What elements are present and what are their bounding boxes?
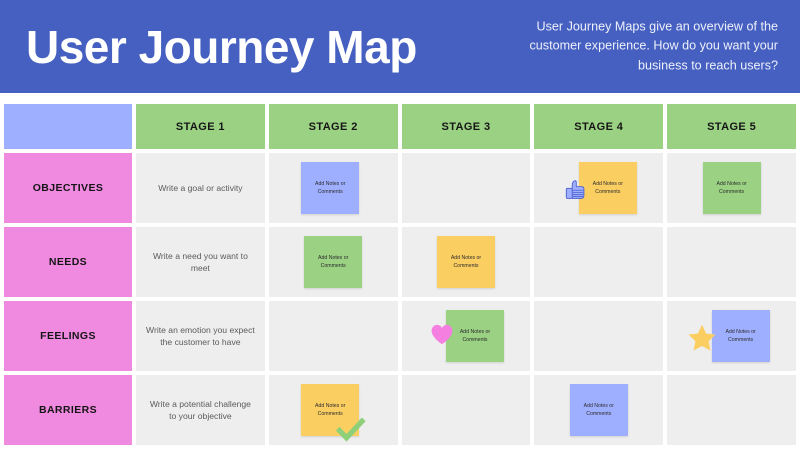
cell-needs-stage2[interactable]: Add Notes or Comments	[269, 227, 398, 297]
stage-header-label: STAGE 2	[309, 121, 358, 133]
cell-feelings-stage3[interactable]: Add Notes or Comments	[402, 301, 531, 371]
grid-corner-cell	[4, 104, 132, 149]
sticky-note[interactable]: Add Notes or Comments	[712, 310, 770, 362]
prompt-text: Write an emotion you expect the customer…	[136, 324, 265, 349]
stage-header-3[interactable]: STAGE 3	[402, 104, 531, 149]
stage-header-2[interactable]: STAGE 2	[269, 104, 398, 149]
header-subtitle: User Journey Maps give an overview of th…	[488, 17, 778, 76]
stage-header-label: STAGE 4	[574, 121, 623, 133]
note-wrapper: Add Notes or Comments	[402, 301, 531, 371]
prompt-text: Write a potential challenge to your obje…	[136, 398, 265, 423]
row-label-text: BARRIERS	[39, 404, 97, 416]
sticky-note-text: Add Notes or Comments	[446, 328, 504, 345]
stage-header-label: STAGE 3	[441, 121, 490, 133]
sticky-note[interactable]: Add Notes or Comments	[579, 162, 637, 214]
row-label-objectives[interactable]: OBJECTIVES	[4, 153, 132, 223]
note-wrapper: Add Notes or Comments	[402, 227, 531, 297]
sticky-note-text: Add Notes or Comments	[437, 254, 495, 271]
note-wrapper: Add Notes or Comments	[269, 227, 398, 297]
stage-header-label: STAGE 1	[176, 121, 225, 133]
prompt-text: Write a need you want to meet	[136, 250, 265, 275]
user-journey-map-page: User Journey Map User Journey Maps give …	[0, 0, 800, 449]
cell-feelings-stage4[interactable]	[534, 301, 663, 371]
sticky-note-text: Add Notes or Comments	[570, 402, 628, 419]
sticky-note[interactable]: Add Notes or Comments	[703, 162, 761, 214]
note-wrapper: Add Notes or Comments	[269, 375, 398, 445]
page-title: User Journey Map	[26, 20, 417, 74]
cell-barriers-stage4[interactable]: Add Notes or Comments	[534, 375, 663, 445]
cell-needs-stage1[interactable]: Write a need you want to meet	[136, 227, 265, 297]
cell-objectives-stage1[interactable]: Write a goal or activity	[136, 153, 265, 223]
cell-feelings-stage5[interactable]: Add Notes or Comments	[667, 301, 796, 371]
cell-barriers-stage5[interactable]	[667, 375, 796, 445]
note-wrapper: Add Notes or Comments	[269, 153, 398, 223]
row-label-feelings[interactable]: FEELINGS	[4, 301, 132, 371]
sticky-note[interactable]: Add Notes or Comments	[304, 236, 362, 288]
sticky-note-text: Add Notes or Comments	[304, 254, 362, 271]
note-wrapper: Add Notes or Comments	[534, 375, 663, 445]
cell-objectives-stage5[interactable]: Add Notes or Comments	[667, 153, 796, 223]
sticky-note[interactable]: Add Notes or Comments	[446, 310, 504, 362]
row-label-text: NEEDS	[49, 256, 87, 268]
prompt-text: Write a goal or activity	[148, 182, 252, 194]
cell-feelings-stage2[interactable]	[269, 301, 398, 371]
cell-needs-stage3[interactable]: Add Notes or Comments	[402, 227, 531, 297]
sticky-note-text: Add Notes or Comments	[579, 180, 637, 197]
sticky-note[interactable]: Add Notes or Comments	[437, 236, 495, 288]
cell-objectives-stage4[interactable]: Add Notes or Comments	[534, 153, 663, 223]
cell-barriers-stage2[interactable]: Add Notes or Comments	[269, 375, 398, 445]
sticky-note-text: Add Notes or Comments	[703, 180, 761, 197]
row-label-text: FEELINGS	[40, 330, 96, 342]
cell-feelings-stage1[interactable]: Write an emotion you expect the customer…	[136, 301, 265, 371]
header-banner: User Journey Map User Journey Maps give …	[0, 0, 800, 93]
sticky-note[interactable]: Add Notes or Comments	[301, 162, 359, 214]
cell-barriers-stage3[interactable]	[402, 375, 531, 445]
row-label-text: OBJECTIVES	[33, 182, 104, 194]
cell-objectives-stage3[interactable]	[402, 153, 531, 223]
stage-header-label: STAGE 5	[707, 121, 756, 133]
stage-header-4[interactable]: STAGE 4	[534, 104, 663, 149]
journey-map-grid: STAGE 1 STAGE 2 STAGE 3 STAGE 4 STAGE 5 …	[4, 104, 796, 445]
sticky-note-text: Add Notes or Comments	[301, 180, 359, 197]
sticky-note-text: Add Notes or Comments	[301, 402, 359, 419]
cell-objectives-stage2[interactable]: Add Notes or Comments	[269, 153, 398, 223]
stage-header-5[interactable]: STAGE 5	[667, 104, 796, 149]
cell-barriers-stage1[interactable]: Write a potential challenge to your obje…	[136, 375, 265, 445]
note-wrapper: Add Notes or Comments	[667, 153, 796, 223]
sticky-note-text: Add Notes or Comments	[712, 328, 770, 345]
row-label-barriers[interactable]: BARRIERS	[4, 375, 132, 445]
sticky-note[interactable]: Add Notes or Comments	[301, 384, 359, 436]
note-wrapper: Add Notes or Comments	[667, 301, 796, 371]
stage-header-1[interactable]: STAGE 1	[136, 104, 265, 149]
cell-needs-stage4[interactable]	[534, 227, 663, 297]
sticky-note[interactable]: Add Notes or Comments	[570, 384, 628, 436]
cell-needs-stage5[interactable]	[667, 227, 796, 297]
row-label-needs[interactable]: NEEDS	[4, 227, 132, 297]
note-wrapper: Add Notes or Comments	[534, 153, 663, 223]
